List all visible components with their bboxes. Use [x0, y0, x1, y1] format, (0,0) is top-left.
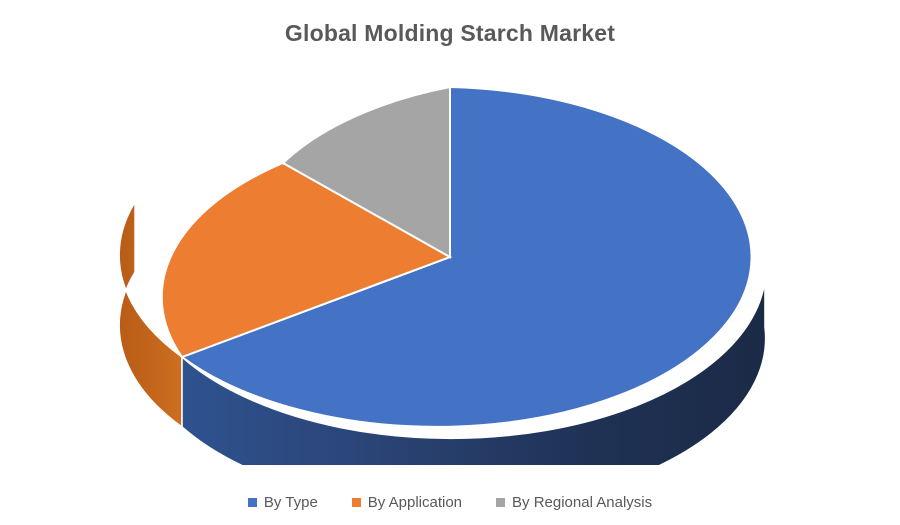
pie-plot-area [0, 55, 900, 465]
legend-label-by-type: By Type [264, 494, 318, 511]
legend-swatch-by-application [352, 498, 361, 507]
legend-item-by-type[interactable]: By Type [248, 494, 318, 511]
legend-swatch-by-regional-analysis [496, 498, 505, 507]
legend-item-by-application[interactable]: By Application [352, 494, 462, 511]
legend-swatch-by-type [248, 498, 257, 507]
chart-title: Global Molding Starch Market [0, 20, 900, 47]
legend-item-by-regional-analysis[interactable]: By Regional Analysis [496, 494, 652, 511]
chart-legend: By Type By Application By Regional Analy… [0, 494, 900, 511]
pie-svg [0, 55, 900, 465]
legend-label-by-application: By Application [368, 494, 462, 511]
pie-chart-figure: Global Molding Starch Market [0, 0, 900, 525]
legend-label-by-regional-analysis: By Regional Analysis [512, 494, 652, 511]
